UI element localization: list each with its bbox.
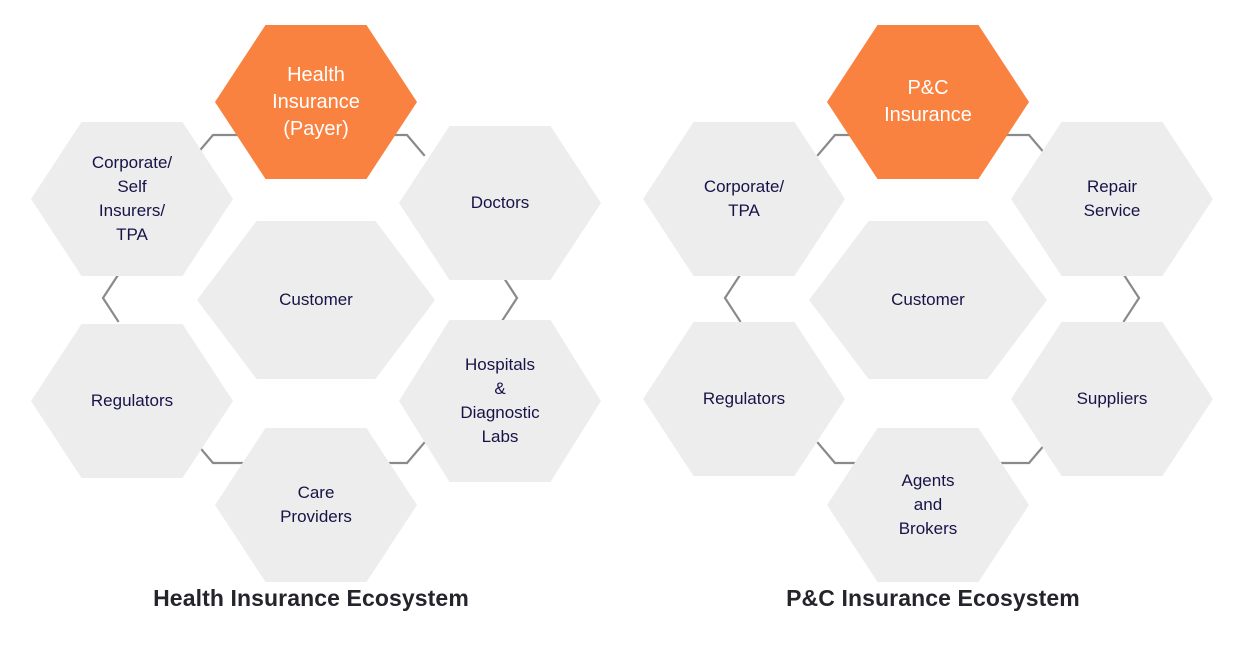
hexagon-label: Suppliers	[1067, 387, 1158, 411]
hexagon-doctors[interactable]: Doctors	[399, 126, 601, 280]
hexagon-agents-and-brokers[interactable]: Agents and Brokers	[827, 428, 1029, 582]
connector-chevron-left	[103, 275, 118, 321]
diagram-canvas: Health Insurance (Payer) Corporate/ Self…	[0, 0, 1244, 646]
hexagon-label: Customer	[269, 288, 363, 312]
hexagon-label: P&C Insurance	[874, 75, 982, 129]
cluster-caption-pc: P&C Insurance Ecosystem	[622, 585, 1244, 612]
hexagon-hospitals-diagnostic-labs[interactable]: Hospitals & Diagnostic Labs	[399, 320, 601, 482]
hexagon-regulators[interactable]: Regulators	[643, 322, 845, 476]
hexagon-label: Repair Service	[1074, 175, 1151, 223]
cluster-health-insurance: Health Insurance (Payer) Corporate/ Self…	[0, 0, 622, 646]
hexagon-health-insurance-payer[interactable]: Health Insurance (Payer)	[215, 25, 417, 179]
hexagon-regulators[interactable]: Regulators	[31, 324, 233, 478]
hexagon-customer[interactable]: Customer	[197, 221, 435, 379]
hexagon-label: Regulators	[693, 387, 795, 411]
hexagon-label: Regulators	[81, 389, 183, 413]
cluster-caption-health: Health Insurance Ecosystem	[0, 585, 622, 612]
hexagon-label: Doctors	[461, 191, 540, 215]
hexagon-label: Corporate/ TPA	[694, 175, 794, 223]
hexagon-label: Hospitals & Diagnostic Labs	[450, 353, 549, 449]
hexagon-customer[interactable]: Customer	[809, 221, 1047, 379]
connector-bottomleft-to-bottom	[196, 443, 252, 463]
hexagon-care-providers[interactable]: Care Providers	[215, 428, 417, 582]
hexagon-field-pc: P&C Insurance Corporate/ TPA Repair Serv…	[622, 0, 1244, 580]
connector-chevron-right	[1124, 275, 1139, 321]
hexagon-suppliers[interactable]: Suppliers	[1011, 322, 1213, 476]
hexagon-corporate-self-insurers-tpa[interactable]: Corporate/ Self Insurers/ TPA	[31, 122, 233, 276]
hexagon-pc-insurance[interactable]: P&C Insurance	[827, 25, 1029, 179]
connector-chevron-right	[502, 275, 517, 321]
hexagon-label: Health Insurance (Payer)	[262, 62, 370, 143]
hexagon-label: Care Providers	[270, 481, 362, 529]
connector-chevron-left	[725, 275, 740, 321]
hexagon-label: Customer	[881, 288, 975, 312]
hexagon-corporate-tpa[interactable]: Corporate/ TPA	[643, 122, 845, 276]
hexagon-label: Corporate/ Self Insurers/ TPA	[82, 151, 182, 247]
hexagon-label: Agents and Brokers	[889, 469, 968, 541]
hexagon-repair-service[interactable]: Repair Service	[1011, 122, 1213, 276]
hexagon-field-health: Health Insurance (Payer) Corporate/ Self…	[0, 0, 622, 580]
cluster-pc-insurance: P&C Insurance Corporate/ TPA Repair Serv…	[622, 0, 1244, 646]
